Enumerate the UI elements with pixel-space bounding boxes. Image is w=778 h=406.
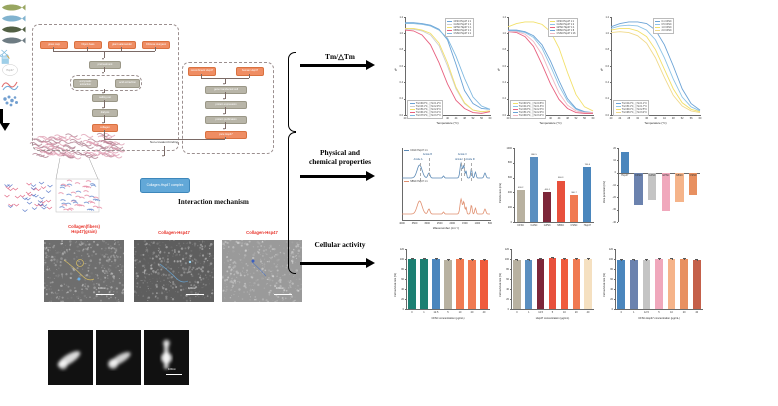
y-ticklabel: -20 [606,196,616,199]
error-cap [563,258,566,259]
legend: CFSC:Hsp47 1:1CASC:Hsp47 1:2GPSC:Hsp47 1… [548,18,578,37]
legend-swatch [410,112,415,113]
bar [468,260,475,310]
tm-annotation-item: Tm=38.0°C, △Tm=3.4°C [616,111,647,114]
connector [249,74,250,78]
y-ticklabel: 120 [603,248,613,251]
legend-swatch [655,27,660,28]
legend-swatch [447,27,452,28]
tem-panel-3: 100nm [144,330,189,385]
error-cap [658,258,661,259]
error-cap [471,259,474,260]
ftir-legend-item: NBSC:Hsp47 1:1 [404,180,428,183]
legend-swatch [616,109,621,110]
bar [643,260,651,310]
brace-bottom [288,132,296,274]
tem-panel-1 [48,330,93,385]
bar [680,259,688,309]
step-protein-purification: protein purification [205,116,247,124]
micrograph-caption-1: Collagen-Hsp47 [134,230,214,235]
error-cap [515,259,518,260]
error-cap [411,258,414,259]
y-tick [405,309,406,310]
tm-annotation-label: Tm=36.6°C, △Tm=3.4°C [519,114,544,117]
ftir-annotation: Amide I [455,158,463,161]
y-tick [510,269,511,270]
legend-swatch [550,21,555,22]
bar [456,259,463,309]
y-tick [510,279,511,280]
source-label-0: grass carp [40,41,68,49]
legend-label: CASC:Hsp47 1:2 [557,24,575,26]
legend: 0.1 CFSC0.5 CFSC1.0 CFSC2.0 CFSC [653,18,674,34]
tm-annotation-label: Tm=37.9°C, △Tm=3.7°C [416,114,441,117]
scissors-icon [0,44,9,52]
y-ticklabel: 200 [502,206,512,209]
annotation-guide [420,163,421,181]
protein-ribbon-icon [0,77,20,93]
legend-label: 1.0 CFSC [662,27,672,29]
chart-melt-curve-1: 20242832364044485256600.00.20.40.60.81.0… [392,12,496,127]
y-ticklabel: 120 [394,248,404,251]
legend-swatch [410,115,415,116]
bar [662,173,670,211]
y-ticklabel: 0 [394,308,404,311]
connector-arrow [223,98,225,100]
bar [517,190,525,222]
legend-swatch [655,24,660,25]
y-tick [617,197,618,198]
tm-annotation-item: Tm=36.6°C, △Tm=3.4°C [513,114,544,117]
y-tick [513,192,514,193]
y-axis [615,249,616,309]
arrow-tm-head [366,60,375,70]
x-axis [615,309,703,310]
scalebar-label: 100nm [276,287,284,290]
ftir-annotation: Amide A [414,158,423,161]
legend-swatch [447,33,452,34]
plasmid-icon: Hsp47 [0,63,20,77]
bar [583,167,591,222]
y-ticklabel: 1000 [502,147,512,150]
ftir-traces [392,142,496,238]
step-dialysis: dialysis [92,109,118,117]
y-ticklabel: -10 [606,184,616,187]
arrow-physchem-body [300,175,368,178]
bar [420,259,427,309]
tm-annotations: Tm=34.2°C, △Tm=1.1°CTm=35.1°C, △Tm=1.7°C… [613,100,649,116]
arrow-cellular-body [300,262,368,265]
y-axis-label: Cell survival rate (%) [603,273,606,297]
connector-arrow [102,72,104,74]
x-axis [406,309,490,310]
legend-swatch [447,30,452,31]
error-cap [527,259,530,260]
y-ticklabel: 100 [499,258,509,261]
y-tick [614,249,615,250]
error-cap [670,258,673,259]
connector [104,130,105,139]
legend-swatch [404,150,409,151]
step-protein-expression: protein expression [205,101,247,109]
legend-swatch [513,109,518,110]
category-label: CSSC [685,174,701,177]
fish-grass-carp [0,0,26,11]
bar [668,259,676,309]
legend-label: CFSC:Hsp47 1:1 [557,21,574,23]
legend-swatch [550,27,555,28]
noncovalent-binding-label: Non-covalent binding [114,140,214,144]
y-tick [405,299,406,300]
bar-value-label: 560.3 [553,177,569,179]
error-cap [575,258,578,259]
protein-cluster-icon [0,93,22,109]
legend-item: CSSC:Hsp47 1:16 [550,32,575,35]
y-ticklabel: 20 [499,298,509,301]
step-collagen: collagen [92,124,118,132]
legend-swatch [513,103,518,104]
bar [570,195,578,222]
legend-swatch [655,21,660,22]
legend: CFSC:Hsp47 1:1CASC:Hsp47 1:1GPSC:Hsp47 1… [445,18,474,37]
y-ticklabel: 0 [499,308,509,311]
legend-swatch [410,106,415,107]
error-cap [683,258,686,259]
y-axis [406,249,407,309]
y-tick [614,279,615,280]
bar [530,157,538,222]
bar [634,173,642,205]
error-cap [587,258,590,259]
error-cap [447,259,450,260]
legend-swatch [404,181,409,182]
y-tick [513,207,514,208]
chart-particle-size: 02004006008001000Particle size (nm)430.2… [497,142,600,238]
interaction-arrow-head [0,123,10,131]
y-tick [405,289,406,290]
bar [693,260,701,310]
y-tick [513,148,514,149]
bar [444,260,451,310]
y-ticklabel: 800 [502,161,512,164]
chart-ftir: 4000350030002500200015001000500Wavenumbe… [392,142,496,238]
connector [155,47,156,51]
tem-panel-2 [96,330,141,385]
y-ticklabel: 20 [394,298,404,301]
tm-annotations: Tm=30.8°C, △Tm=1.2°CTm=33.1°C, △Tm=2.0°C… [407,100,443,119]
y-tick [405,269,406,270]
category-label: 40 [476,311,491,314]
bar-value-label: 740.4 [579,164,595,166]
y-ticklabel: 600 [502,176,512,179]
y-axis [514,148,515,222]
y-ticklabel: 80 [499,268,509,271]
legend-swatch [655,30,660,31]
chart-viability-cfsc: 020406080100120Cell survival rate (%)CFS… [392,243,496,325]
y-tick [510,299,511,300]
legend-swatch [550,33,555,34]
y-ticklabel: 0 [603,308,613,311]
x-axis-label: CFSC-Hsp47 concentration (μg/mL) [615,317,703,320]
graphical-abstract: grass carpNipon bassgiant salamanderChin… [0,0,778,406]
annotation-guide [429,158,430,176]
connector [225,137,226,139]
bar [525,260,532,310]
scalebar-label: 100nm [188,287,196,290]
y-tick [617,173,618,174]
scalebar [274,294,292,295]
x-axis-label: CFSC concentration (μg/mL) [406,317,490,320]
connector-arrow [223,113,225,115]
y-ticklabel: 100 [394,258,404,261]
y-tick [614,269,615,270]
interaction-mechanism-label: Interaction mechanism [178,198,249,206]
legend-label: CSSC:Hsp47 1:16 [557,33,576,35]
y-tick [405,279,406,280]
complex-box: Collagen-Hsp47 complex [140,178,190,193]
arrow-physchem-label: Physical andchemical properties [300,148,380,166]
scalebar-label: 100nm [168,368,176,371]
y-tick [617,222,618,223]
step-gene-transfected: gene transfected cell [205,86,247,94]
bar [655,259,663,309]
y-ticklabel: 100 [603,258,613,261]
y-ticklabel: -30 [606,208,616,211]
error-cap [551,257,554,258]
y-ticklabel: 20 [606,147,616,150]
scalebar [166,374,182,375]
legend-swatch [550,24,555,25]
bar [513,260,520,310]
legend-swatch [410,103,415,104]
micrograph-caption-0: Collagen(fibers)Hsp47(grain) [44,224,124,235]
y-tick [510,249,511,250]
source-label-2: giant salamander [108,41,136,49]
tm-annotation-label: Tm=38.0°C, △Tm=3.4°C [622,111,647,114]
legend-swatch [447,24,452,25]
chart-melt-curve-3: 20242832364044485256600.00.20.40.60.81.0… [598,12,706,127]
arrow-tm-body [300,64,368,67]
chart-zeta-potential: 20100-10-20-30-40Zeta potential (mV)Hsp4… [601,142,706,238]
legend-item: 2.0 CFSC [655,29,671,32]
y-tick [617,210,618,211]
category-label: Hsp47 [579,224,595,227]
source-label-3: Chinese sturgeon [142,41,170,49]
connector-arrow [223,128,225,130]
bar [573,259,580,309]
legend-label: CFSC:Hsp47 1:1 [454,21,471,23]
y-tick [617,160,618,161]
legend-swatch [410,109,415,110]
y-tick [510,309,511,310]
y-ticklabel: 0 [606,171,616,174]
legend-label: NBSC:Hsp47 1:1 [454,30,472,32]
legend-swatch [616,106,621,107]
y-tick [405,259,406,260]
error-cap [459,258,462,259]
y-tick [513,222,514,223]
error-cap [632,259,635,260]
y-ticklabel: 10 [606,159,616,162]
y-ticklabel: 80 [603,268,613,271]
y-tick [614,309,615,310]
bar [432,259,439,310]
y-tick [510,289,511,290]
ftir-annotation: Amide III [465,158,474,161]
legend-swatch [550,30,555,31]
brace-top [288,52,296,132]
legend-label: CASC:Hsp47 1:1 [454,24,472,26]
y-tick [405,249,406,250]
y-tick [617,148,618,149]
error-cap [483,259,486,260]
connector-arrow [102,58,104,60]
legend-swatch [447,21,452,22]
legend-label: GPSC:Hsp47 1:4 [557,27,575,29]
y-tick [614,289,615,290]
y-ticklabel: 120 [499,248,509,251]
scalebar [186,294,204,295]
bar [537,259,544,309]
complex-label: Collagen-Hsp47 complex [145,184,186,188]
bar [630,260,638,310]
y-axis-label: Cell survival rate (%) [394,273,397,297]
bar [549,258,556,309]
legend-label: NBSC:Hsp47 1:1 [410,181,428,183]
legend-label: GPSC:Hsp47 1:1 [454,27,472,29]
error-cap [620,259,623,260]
connector-arrow [223,83,225,85]
annotation-guide [461,163,462,181]
micrograph-collagen-hsp47-b: 100nm [134,240,214,302]
chart-viability-complex: 020406080100120Cell survival rate (%)CFS… [601,243,709,325]
micrograph-collagen-hsp47-fibers: 100nm [44,240,124,302]
error-cap [435,258,438,259]
legend-label: 0.1 CFSC [662,21,672,23]
y-tick [510,259,511,260]
y-tick [614,259,615,260]
fish-nipon-bass [0,11,26,22]
category-label: 40 [689,311,705,314]
fish-sturgeon [0,33,26,44]
svg-text:Hsp47: Hsp47 [6,69,14,72]
bar [561,259,568,310]
step-acid: acid extraction [115,79,140,88]
y-tick [513,163,514,164]
bar-value-label: 880.5 [526,154,542,156]
legend-swatch [616,103,621,104]
bar-value-label: 360.7 [566,192,582,194]
bar [621,152,629,172]
error-cap [539,258,542,259]
bar [557,181,565,222]
input-human: human Hsp47 [236,67,264,76]
legend-swatch [513,115,518,116]
error-cap [695,259,698,260]
ftir-annotation: Amide II [458,153,467,156]
y-tick [513,178,514,179]
bar [617,260,625,310]
source-label-1: Nipon bass [74,41,102,49]
category-label: 40 [580,311,595,314]
connector [104,51,105,58]
x-axis [618,173,700,174]
error-cap [423,258,426,259]
legend-item: CSSC:Hsp47 1:1 [447,32,471,35]
ftir-legend-item: CASC:Hsp47 1:1 [404,149,428,152]
y-axis [511,249,512,309]
y-axis [618,148,619,222]
step-pure-hsp47: pure Hsp47 [205,131,247,139]
tm-annotations: Tm=30.9°C, △Tm=0.8°CTm=32.4°C, △Tm=1.6°C… [510,100,546,119]
y-ticklabel: 80 [394,268,404,271]
legend-label: 0.5 CFSC [662,24,672,26]
legend-swatch [513,112,518,113]
salamander [0,22,26,33]
y-axis-label: Particle size (nm) [499,183,502,203]
connector-arrow [162,155,164,157]
ftir-annotation: Amide B [423,153,432,156]
bar-value-label: 430.2 [513,187,529,189]
bar [584,259,591,310]
error-cap [645,259,648,260]
legend-label: CSSC:Hsp47 1:1 [454,33,472,35]
legend-label: CASC:Hsp47 1:1 [410,150,428,152]
arrow-cellular-label: Cellular activity [300,240,380,249]
legend-swatch [513,106,518,107]
y-ticklabel: 400 [502,191,512,194]
arrow-cellular-head [366,258,375,268]
tm-annotation-item: Tm=37.9°C, △Tm=3.7°C [410,114,441,117]
y-ticklabel: -40 [606,221,616,224]
y-axis-label: Cell survival rate (%) [499,273,502,297]
step-enzymatic: enzymatic extraction [73,79,98,88]
legend-swatch [616,112,621,113]
scalebar-label: 100nm [98,287,106,290]
bar [480,260,487,309]
y-tick [617,185,618,186]
chart-melt-curve-2: 20242832364044485256600.00.20.40.60.81.0… [495,12,599,127]
y-tick [614,299,615,300]
bar [543,192,551,222]
scalebar [96,294,114,295]
x-axis [514,222,594,223]
input-recombinant: recombinant Hsp47 [188,67,216,76]
x-axis [511,309,594,310]
interaction-arrow-body [0,109,3,123]
legend-label: 2.0 CFSC [662,30,672,32]
step-saltout: salting out [92,94,118,102]
beaker-icon [0,52,11,63]
legend-label: NBSC:Hsp47 1:8 [557,30,575,32]
x-axis-label: Hsp47 concentration (μg/mL) [511,317,594,320]
chart-viability-hsp47: 020406080100120Cell survival rate (%)Hsp… [497,243,600,325]
arrow-physchem-head [366,171,375,181]
y-ticklabel: 20 [603,298,613,301]
step-pretreatment: pretreatment [89,61,121,69]
bar-value-label: 400.1 [539,189,555,191]
y-ticklabel: 0 [502,221,512,224]
y-axis-label: Zeta potential (mV) [603,181,606,203]
bar [408,259,415,309]
annotation-guide [471,163,472,181]
